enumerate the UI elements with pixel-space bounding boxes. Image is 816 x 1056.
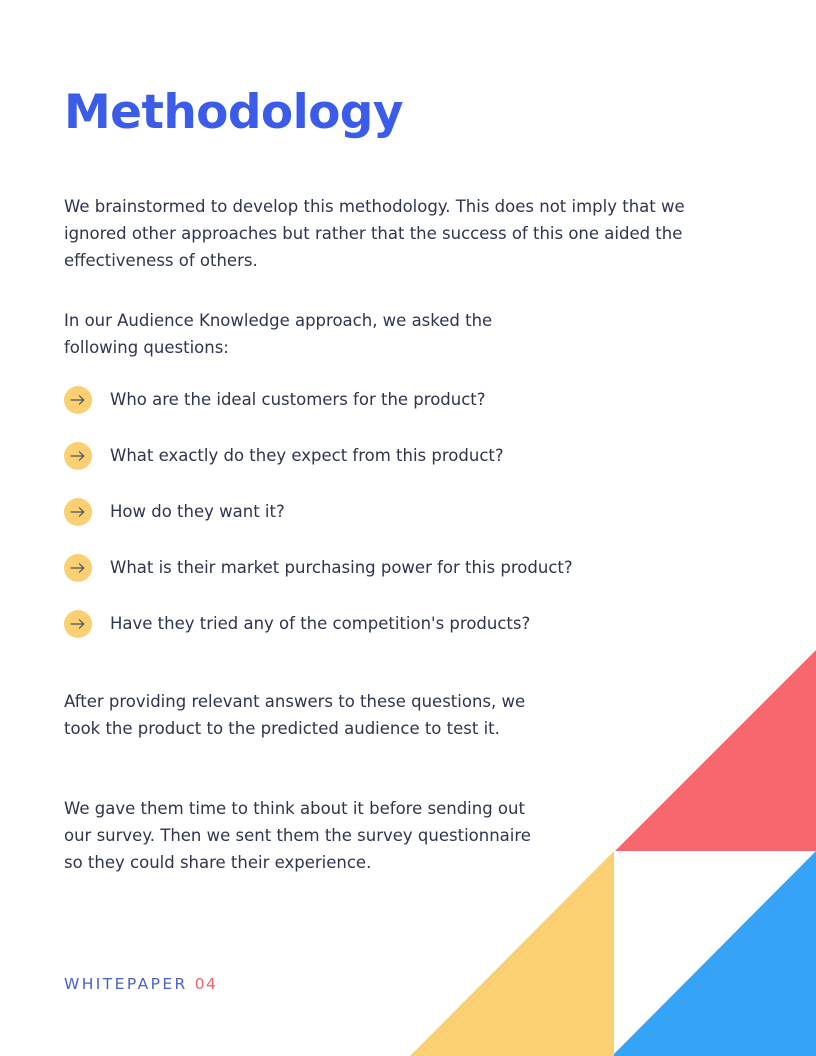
question-text: How do they want it? <box>110 498 285 526</box>
question-list: Who are the ideal customers for the prod… <box>64 386 704 638</box>
whitepaper-page: Methodology We brainstormed to develop t… <box>0 0 816 1056</box>
arrow-right-icon <box>64 386 92 414</box>
page-footer: WHITEPAPER 04 <box>64 975 217 993</box>
page-number: 04 <box>195 975 218 993</box>
question-text: What is their market purchasing power fo… <box>110 554 573 582</box>
list-item: Who are the ideal customers for the prod… <box>64 386 704 414</box>
after-answers-paragraph: After providing relevant answers to thes… <box>64 688 534 742</box>
question-text: Who are the ideal customers for the prod… <box>110 386 486 414</box>
arrow-right-icon <box>64 554 92 582</box>
list-item: What is their market purchasing power fo… <box>64 554 704 582</box>
list-item: Have they tried any of the competition's… <box>64 610 704 638</box>
list-item: How do they want it? <box>64 498 704 526</box>
list-item: What exactly do they expect from this pr… <box>64 442 704 470</box>
question-text: Have they tried any of the competition's… <box>110 610 530 638</box>
question-text: What exactly do they expect from this pr… <box>110 442 504 470</box>
arrow-right-icon <box>64 498 92 526</box>
page-content: Methodology We brainstormed to develop t… <box>64 0 754 1056</box>
survey-paragraph: We gave them time to think about it befo… <box>64 795 534 876</box>
arrow-right-icon <box>64 442 92 470</box>
intro-paragraph: We brainstormed to develop this methodol… <box>64 193 689 274</box>
page-title: Methodology <box>64 88 403 137</box>
lead-in-paragraph: In our Audience Knowledge approach, we a… <box>64 307 564 361</box>
footer-label: WHITEPAPER <box>64 975 188 993</box>
arrow-right-icon <box>64 610 92 638</box>
